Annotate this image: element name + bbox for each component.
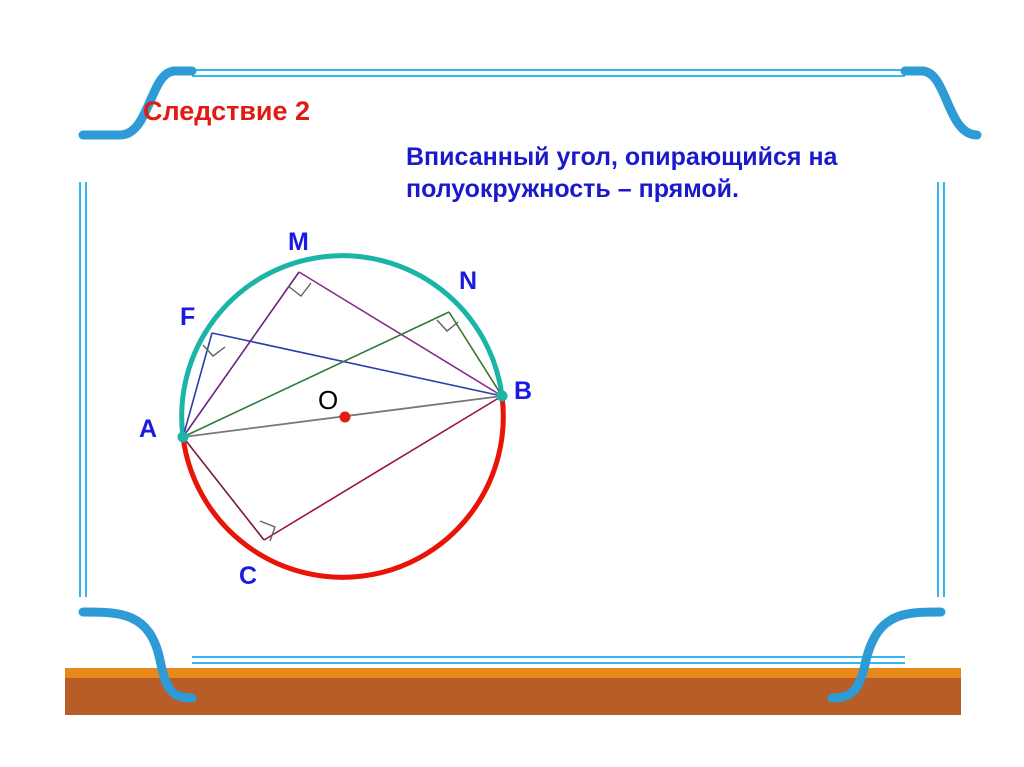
point-label-a: A [139, 415, 157, 444]
right-angle-M [288, 283, 311, 296]
center-dot-O [340, 412, 351, 423]
chord-group [183, 272, 502, 540]
point-label-n: N [459, 267, 477, 296]
point-label-f: F [180, 303, 195, 332]
upper-arc [182, 256, 502, 437]
slide-canvas: Следствие 2 Вписанный угол, опирающийся … [0, 0, 1024, 767]
theorem-statement: Вписанный угол, опирающийся на полуокруж… [406, 141, 966, 205]
chord-A-M [183, 272, 299, 437]
chord-A-N [183, 312, 449, 437]
lower-arc [183, 396, 503, 577]
page-title: Следствие 2 [143, 96, 310, 127]
chord-F-B [212, 333, 502, 396]
point-label-b: B [514, 377, 532, 406]
point-label-m: M [288, 228, 309, 257]
vertex-dot-A [178, 432, 189, 443]
point-label-o: O [318, 385, 338, 416]
vertex-dot-B [497, 391, 508, 402]
point-label-c: C [239, 562, 257, 591]
